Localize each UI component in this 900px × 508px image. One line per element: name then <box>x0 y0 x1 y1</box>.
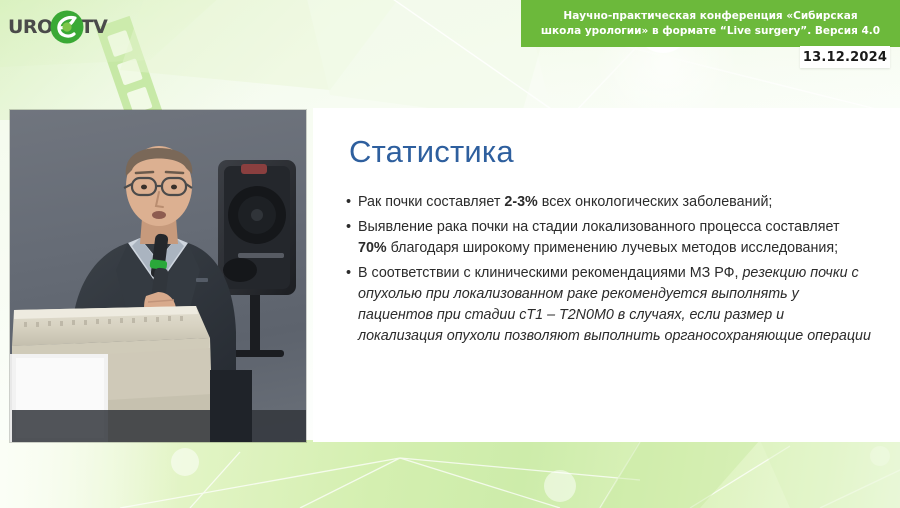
video-scene-illustration <box>10 110 306 442</box>
conference-title-line-2: школа урологии» в формате “Live surgery”… <box>541 24 880 39</box>
bullet-3-text: В соответствии с клиническими рекомендац… <box>358 263 871 347</box>
list-item: • Рак почки составляет 2-3% всех онколог… <box>346 192 871 213</box>
bullet-1-text: Рак почки составляет 2-3% всех онкологич… <box>358 192 871 213</box>
uro-e-circle-logo-icon <box>49 9 85 45</box>
logo-uro-text: URO <box>8 18 53 37</box>
slide-bullet-list: • Рак почки составляет 2-3% всех онколог… <box>346 192 871 351</box>
conference-title-line-1: Научно-практическая конференция «Сибирск… <box>541 9 880 24</box>
conference-title-banner: Научно-практическая конференция «Сибирск… <box>521 0 900 47</box>
date-badge: 13.12.2024 <box>800 46 890 68</box>
slide-title: Статистика <box>349 134 514 170</box>
logo-tv-text: TV <box>81 18 108 37</box>
background-bottom-highlight <box>0 440 180 508</box>
urotv-logo[interactable]: URO TV <box>8 8 108 46</box>
list-item: • В соответствии с клиническими рекоменд… <box>346 263 871 347</box>
speaker-head <box>124 146 192 244</box>
list-item: • Выявление рака почки на стадии локализ… <box>346 217 871 259</box>
bullet-marker-icon: • <box>346 217 358 238</box>
date-badge-value: 13.12.2024 <box>803 50 887 65</box>
bullet-marker-icon: • <box>346 263 358 284</box>
conference-speaker-video[interactable] <box>10 110 306 442</box>
slide-panel: Статистика • Рак почки составляет 2-3% в… <box>313 108 900 442</box>
bullet-2-text: Выявление рака почки на стадии локализов… <box>358 217 871 259</box>
presentation-stage: URO TV Научно-практическая конференция «… <box>0 0 900 508</box>
bullet-marker-icon: • <box>346 192 358 213</box>
conference-title-text: Научно-практическая конференция «Сибирск… <box>531 9 890 39</box>
